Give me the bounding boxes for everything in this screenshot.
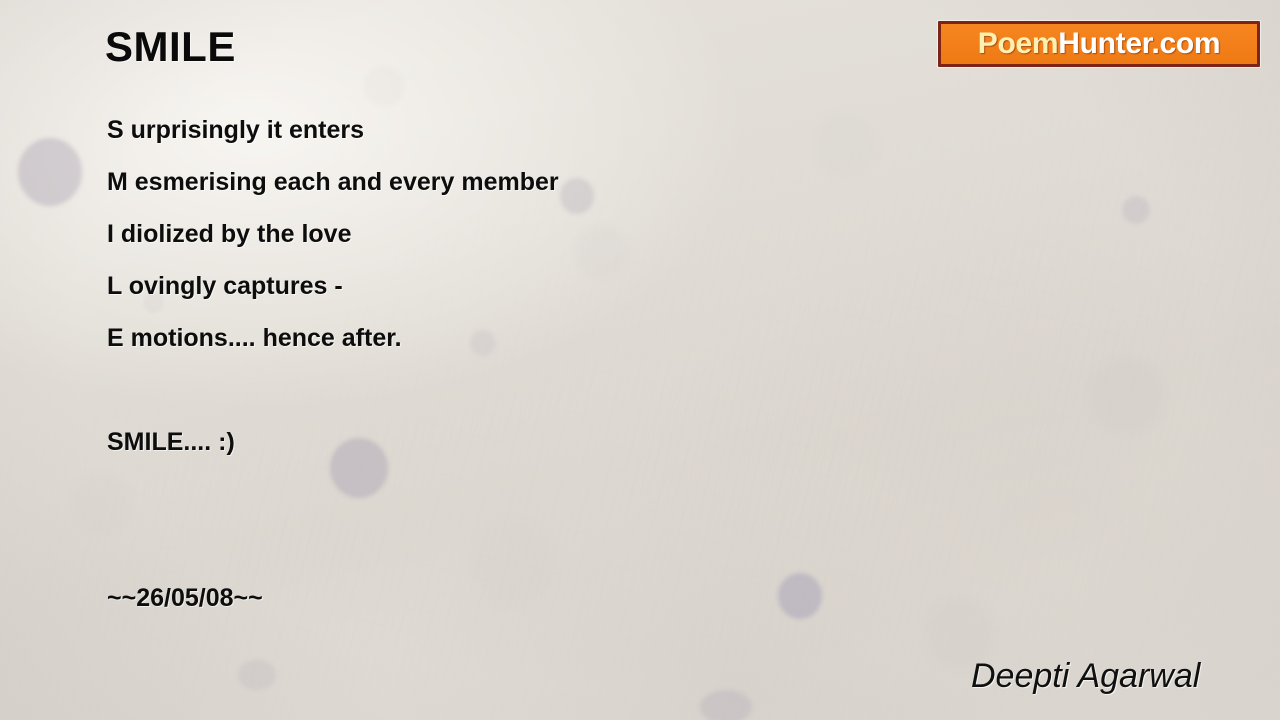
ink-blot	[18, 138, 82, 206]
poem-line-blank	[107, 371, 867, 423]
ink-blot	[1122, 196, 1150, 224]
poem-author: Deepti Agarwal	[971, 657, 1200, 696]
logo-word-hunter-com: Hunter.com	[1058, 27, 1220, 60]
poem-line: SMILE.... :)	[107, 423, 867, 475]
logo-word-poem: Poem	[978, 27, 1059, 60]
logo-wordmark: PoemHunter.com	[978, 29, 1221, 59]
poem-text-body: S urprisingly it entersM esmerising each…	[107, 111, 867, 631]
poem-page: SMILE PoemHunter.com S urprisingly it en…	[0, 0, 1280, 720]
ink-blot	[700, 690, 752, 720]
poem-line: I diolized by the love	[107, 215, 867, 267]
poem-line: M esmerising each and every member	[107, 163, 867, 215]
poem-line-blank	[107, 527, 867, 579]
poem-line: E motions.... hence after.	[107, 319, 867, 371]
poem-line-blank	[107, 475, 867, 527]
ink-blot	[238, 660, 276, 690]
poemhunter-logo[interactable]: PoemHunter.com	[938, 21, 1260, 67]
poem-line: ~~26/05/08~~	[107, 579, 867, 631]
poem-line: L ovingly captures -	[107, 267, 867, 319]
poem-line: S urprisingly it enters	[107, 111, 867, 163]
page-title: SMILE	[105, 23, 236, 71]
